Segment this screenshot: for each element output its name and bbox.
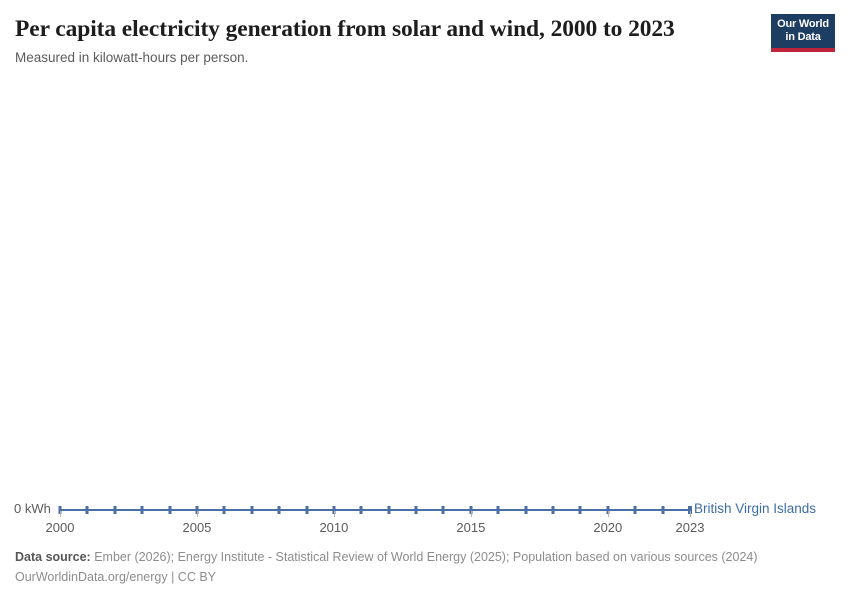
data-point[interactable] bbox=[552, 506, 555, 514]
owid-logo-line-1: Our World bbox=[777, 18, 829, 31]
x-axis-label-2020: 2020 bbox=[593, 520, 622, 535]
data-source-text: Data source: Ember (2026); Energy Instit… bbox=[15, 549, 758, 565]
chart-plot-area[interactable]: 0 kWh 200020052010201520202023 British V… bbox=[0, 80, 850, 540]
data-point[interactable] bbox=[86, 506, 89, 514]
series-line-british-virgin-islands[interactable] bbox=[60, 509, 690, 511]
data-point[interactable] bbox=[278, 506, 281, 514]
x-axis-label-2010: 2010 bbox=[319, 520, 348, 535]
data-point[interactable] bbox=[113, 506, 116, 514]
chart-header: Per capita electricity generation from s… bbox=[0, 0, 850, 80]
data-point[interactable] bbox=[415, 506, 418, 514]
data-point[interactable] bbox=[360, 506, 363, 514]
data-point[interactable] bbox=[634, 506, 637, 514]
x-axis-tick bbox=[60, 511, 61, 517]
data-point[interactable] bbox=[223, 506, 226, 514]
data-point[interactable] bbox=[250, 506, 253, 514]
data-point[interactable] bbox=[168, 506, 171, 514]
chart-subtitle: Measured in kilowatt-hours per person. bbox=[15, 49, 715, 66]
x-axis-label-2000: 2000 bbox=[46, 520, 75, 535]
x-axis-label-2005: 2005 bbox=[182, 520, 211, 535]
data-point[interactable] bbox=[305, 506, 308, 514]
x-axis-tick bbox=[197, 511, 198, 517]
data-point[interactable] bbox=[442, 506, 445, 514]
data-source-value: Ember (2026); Energy Institute - Statist… bbox=[94, 550, 757, 564]
x-axis-label-2015: 2015 bbox=[456, 520, 485, 535]
owid-logo[interactable]: Our World in Data bbox=[771, 14, 835, 52]
series-label-british-virgin-islands[interactable]: British Virgin Islands bbox=[694, 501, 816, 516]
data-source-label: Data source: bbox=[15, 550, 91, 564]
data-point[interactable] bbox=[141, 506, 144, 514]
data-point[interactable] bbox=[661, 506, 664, 514]
owid-chart-page: Per capita electricity generation from s… bbox=[0, 0, 850, 600]
data-point[interactable] bbox=[387, 506, 390, 514]
data-point[interactable] bbox=[497, 506, 500, 514]
data-point[interactable] bbox=[524, 506, 527, 514]
x-axis-tick bbox=[690, 511, 691, 517]
data-point[interactable] bbox=[579, 506, 582, 514]
owid-logo-line-2: in Data bbox=[785, 31, 820, 44]
y-axis-zero-label: 0 kWh bbox=[14, 501, 51, 516]
page-title: Per capita electricity generation from s… bbox=[15, 15, 755, 43]
x-axis-label-2023: 2023 bbox=[676, 520, 705, 535]
x-axis-tick bbox=[608, 511, 609, 517]
license-text[interactable]: OurWorldinData.org/energy | CC BY bbox=[15, 569, 216, 585]
x-axis-tick bbox=[334, 511, 335, 517]
x-axis-tick bbox=[471, 511, 472, 517]
chart-footer: Data source: Ember (2026); Energy Instit… bbox=[0, 540, 850, 600]
